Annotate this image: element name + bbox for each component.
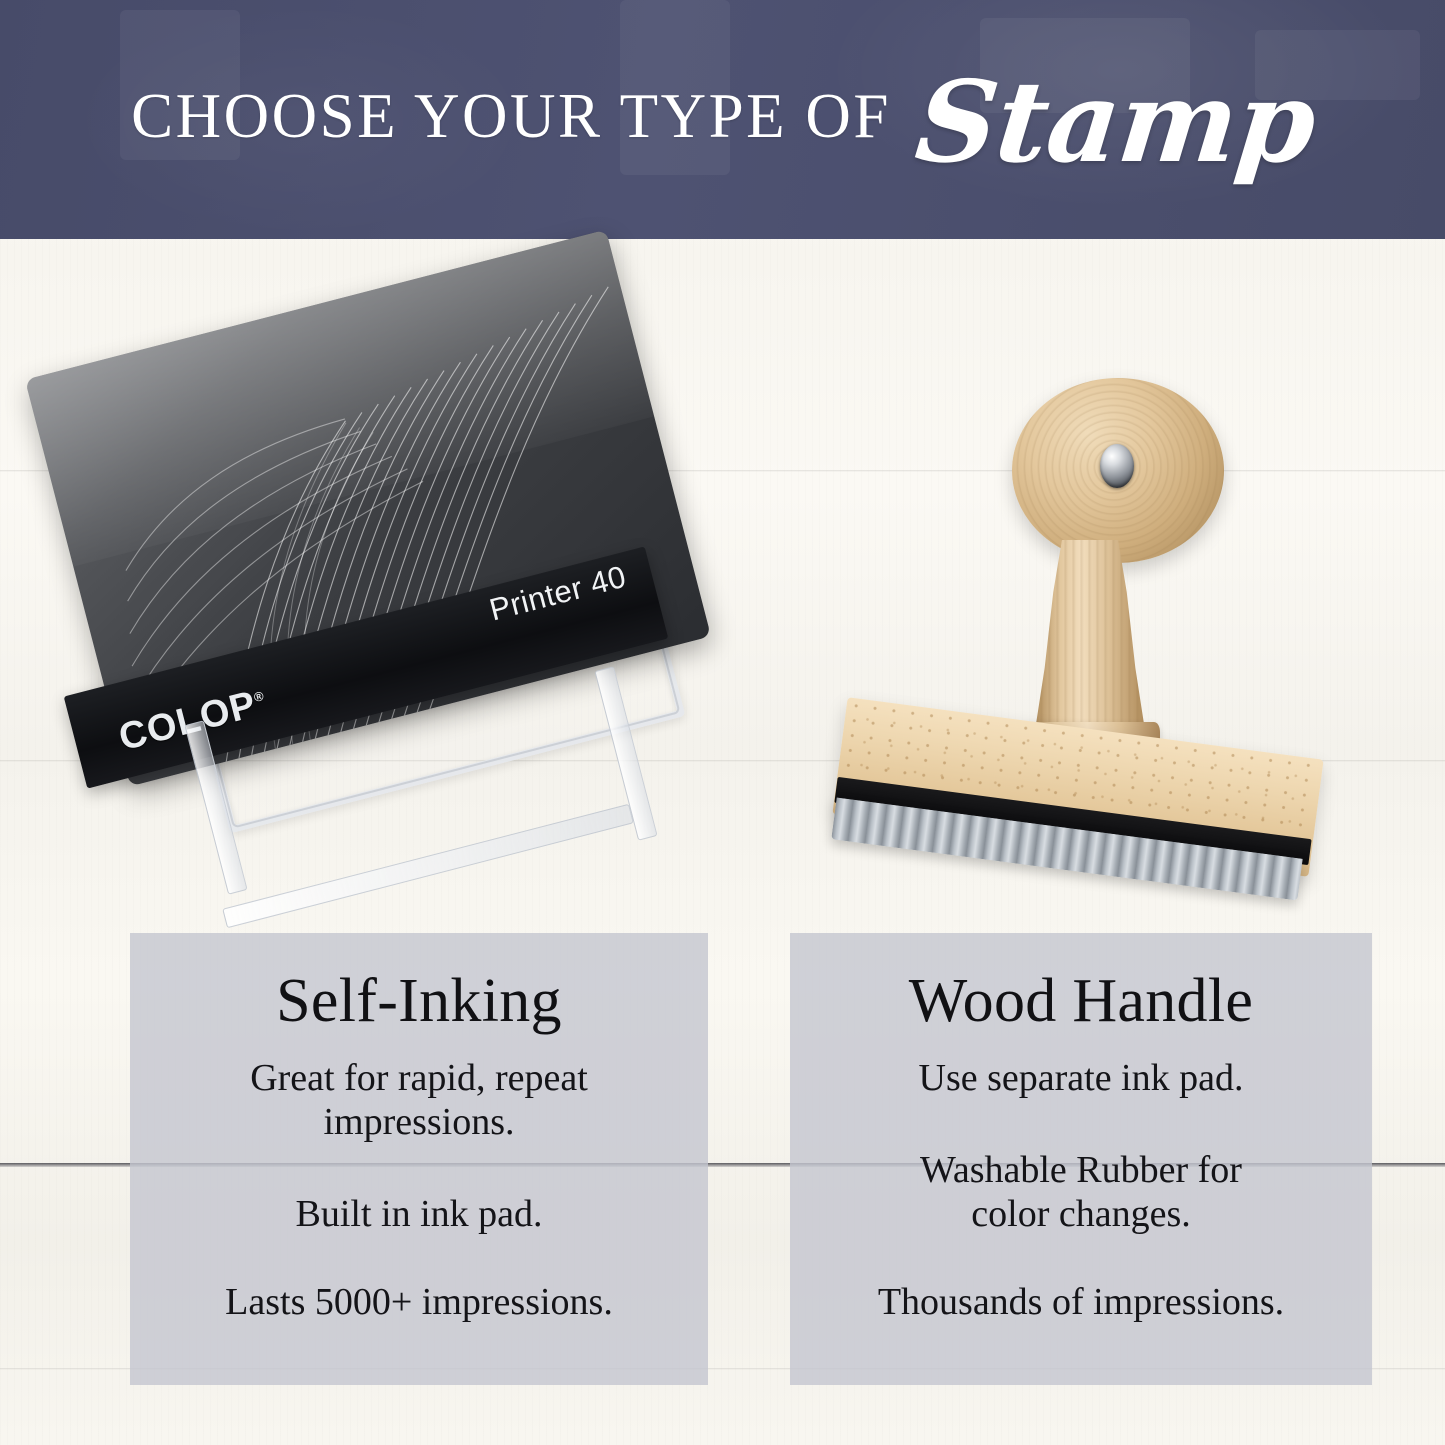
panel-self-inking-line-3: Built in ink pad. [130,1192,708,1236]
panel-self-inking-line-4: Lasts 5000+ impressions. [130,1280,708,1324]
page-title: CHOOSE YOUR TYPE OF Stamp [0,0,1445,239]
page-title-caps: CHOOSE YOUR TYPE OF [131,85,891,148]
panel-self-inking: Self-Inking Great for rapid, repeat impr… [130,933,708,1385]
panel-wood-handle-line-3: color changes. [790,1192,1372,1236]
panel-wood-handle-line-2: Washable Rubber for [790,1148,1372,1192]
panel-wood-handle-title: Wood Handle [790,933,1372,1034]
panel-wood-handle-line-4: Thousands of impressions. [790,1280,1372,1324]
stamp-leg-bottom [222,804,634,929]
wood-knob [1012,378,1224,563]
wood-handle-stamp-image [830,370,1350,940]
metal-rivet-icon [1100,444,1134,488]
stamp-gloss-highlight [25,230,654,567]
panel-self-inking-line-1: Great for rapid, repeat [130,1056,708,1100]
panel-wood-handle-line-1: Use separate ink pad. [790,1056,1372,1100]
wood-neck [1036,540,1144,740]
wood-neck-grain [1036,540,1144,740]
stamp-comparison-infographic: CHOOSE YOUR TYPE OF Stamp [0,0,1445,1445]
header-banner: CHOOSE YOUR TYPE OF Stamp [0,0,1445,239]
panel-self-inking-title: Self-Inking [130,933,708,1034]
panel-wood-handle: Wood Handle Use separate ink pad. Washab… [790,933,1372,1385]
registered-trademark-icon: ® [252,688,266,705]
page-title-script: Stamp [911,67,1320,179]
self-inking-stamp-image: COLOP® Printer 40 [56,268,746,958]
panel-self-inking-line-2: impressions. [130,1100,708,1144]
